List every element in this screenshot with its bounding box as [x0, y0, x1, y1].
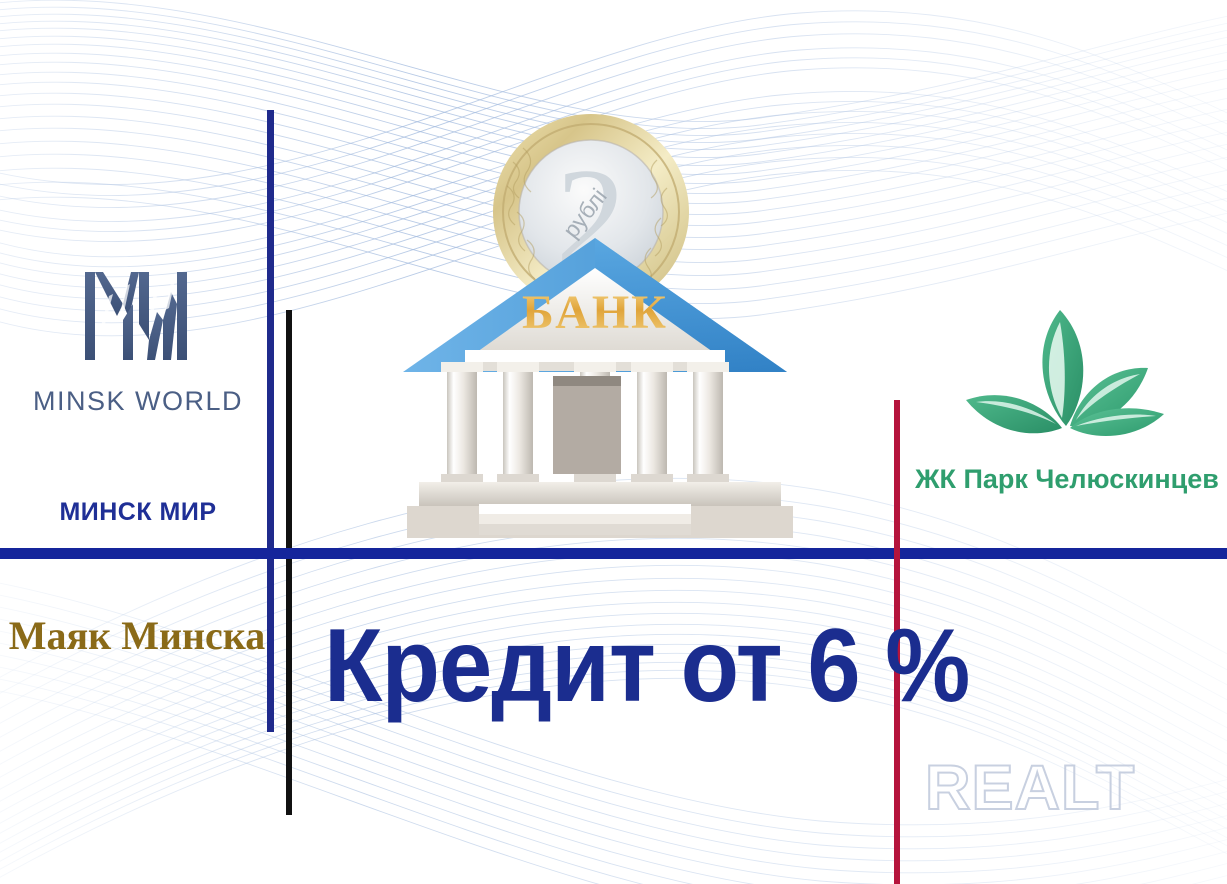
minsk-mir-label: МИНСК МИР: [18, 498, 258, 527]
mayak-minska-label: Маяк Минска: [8, 612, 266, 659]
park-chelyuskintsev-brand: ЖК Парк Челюскинцев: [912, 300, 1222, 495]
bank-building-icon: 2 рублі БАНК: [395, 100, 805, 550]
page-title: Кредит от 6 %: [324, 612, 876, 721]
minsk-world-brand: MINSK WORLD: [18, 268, 258, 417]
realt-watermark: REALT: [925, 752, 1135, 824]
promo-banner: 2 рублі БАНК: [0, 0, 1227, 884]
minsk-world-wordmark: MINSK WORLD: [18, 386, 258, 417]
park-chelyuskintsev-label: ЖК Парк Челюскинцев: [912, 464, 1222, 495]
bank-pediment-text: БАНК: [522, 286, 668, 339]
mw-monogram-icon: [79, 268, 197, 364]
vertical-black-divider: [286, 310, 292, 815]
vertical-blue-divider: [267, 110, 274, 732]
green-leaf-icon: [948, 300, 1186, 450]
horizontal-blue-divider: [0, 548, 1227, 559]
